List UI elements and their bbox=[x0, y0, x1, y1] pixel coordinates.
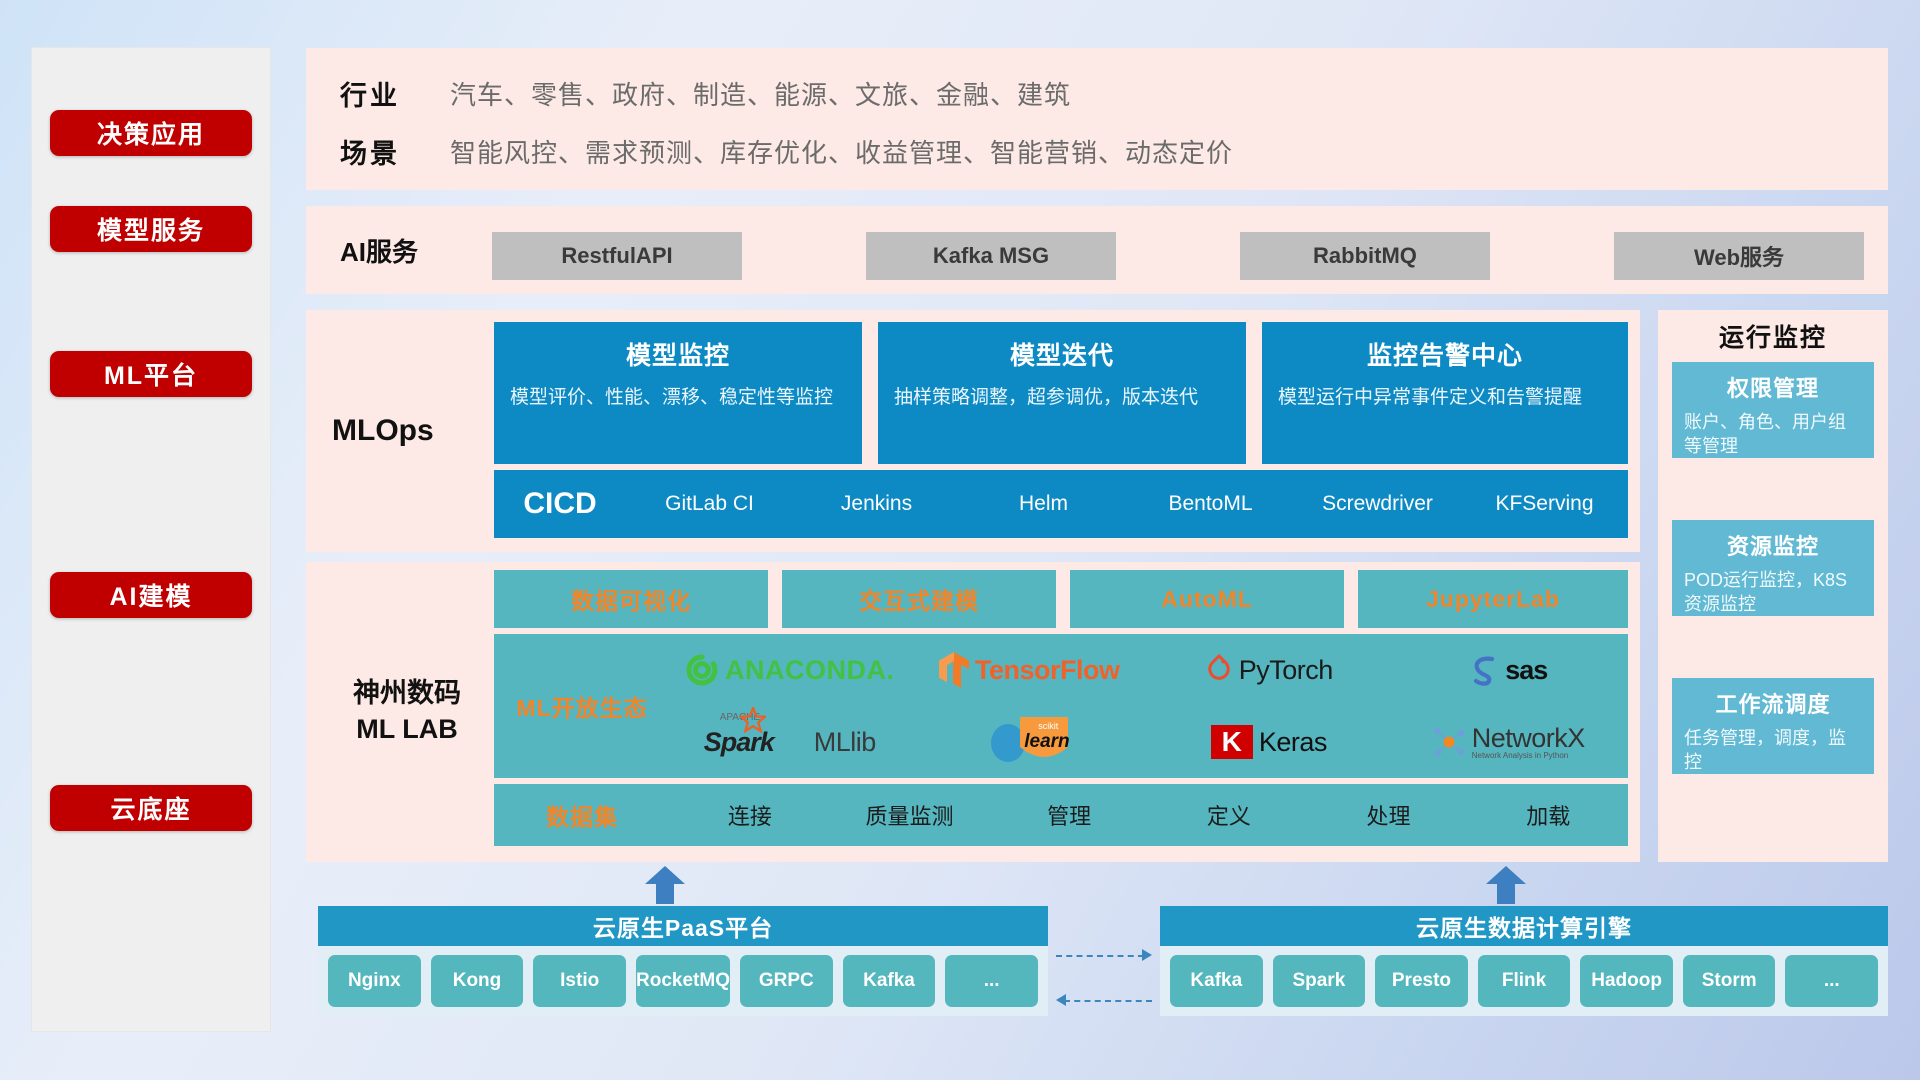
layer-rail: 决策应用 模型服务 ML平台 AI建模 云底座 bbox=[32, 48, 270, 1031]
networkx-logo: NetworkX Network Analysis in Python bbox=[1432, 725, 1585, 760]
pytorch-logo: PyTorch bbox=[1205, 654, 1333, 686]
dataset-item-management[interactable]: 管理 bbox=[989, 799, 1149, 831]
paas-chip-nginx[interactable]: Nginx bbox=[328, 955, 421, 1007]
monitor-card-permissions[interactable]: 权限管理 账户、角色、用户组等管理 bbox=[1672, 362, 1874, 458]
data-chip-flink[interactable]: Flink bbox=[1478, 955, 1571, 1007]
anaconda-mark-icon bbox=[685, 653, 719, 687]
mlops-card-title: 监控告警中心 bbox=[1278, 336, 1612, 372]
networkx-wordmark: NetworkX bbox=[1472, 725, 1585, 752]
rail-label: 决策应用 bbox=[97, 115, 205, 151]
cicd-item-jenkins[interactable]: Jenkins bbox=[793, 493, 960, 515]
scenario-value: 智能风控、需求预测、库存优化、收益管理、智能营销、动态定价 bbox=[450, 133, 1233, 170]
paas-chip-more[interactable]: ... bbox=[945, 955, 1038, 1007]
monitor-card-desc: 账户、角色、用户组等管理 bbox=[1684, 410, 1862, 459]
sas-wordmark: sas bbox=[1505, 655, 1547, 686]
sas-logo: sas bbox=[1469, 654, 1547, 686]
data-engine-title: 云原生数据计算引擎 bbox=[1160, 906, 1888, 946]
service-box-kafka-msg[interactable]: Kafka MSG bbox=[866, 232, 1116, 280]
dataset-item-connect[interactable]: 连接 bbox=[670, 799, 830, 831]
networkx-graph-icon bbox=[1432, 725, 1466, 759]
ml-lab-label: 神州数码 ML LAB bbox=[322, 562, 492, 862]
sas-swirl-icon bbox=[1469, 654, 1499, 686]
mlops-card-title: 模型监控 bbox=[510, 336, 846, 372]
pytorch-flame-icon bbox=[1205, 654, 1233, 686]
ml-lab-label-line1: 神州数码 bbox=[353, 676, 461, 712]
dataset-title: 数据集 bbox=[494, 798, 670, 832]
dataset-item-definition[interactable]: 定义 bbox=[1149, 799, 1309, 831]
dataset-item-quality[interactable]: 质量监测 bbox=[830, 799, 990, 831]
mlops-card-desc: 模型运行中异常事件定义和告警提醒 bbox=[1278, 384, 1612, 412]
dataset-row: 数据集 连接 质量监测 管理 定义 处理 加载 bbox=[494, 784, 1628, 846]
pytorch-wordmark: PyTorch bbox=[1239, 655, 1333, 686]
scenario-row: 场景 智能风控、需求预测、库存优化、收益管理、智能营销、动态定价 bbox=[340, 132, 1233, 171]
paas-chip-grpc[interactable]: GRPC bbox=[740, 955, 833, 1007]
industry-row: 行业 汽车、零售、政府、制造、能源、文旅、金融、建筑 bbox=[340, 74, 1071, 113]
runtime-monitor-title: 运行监控 bbox=[1658, 318, 1888, 354]
scenario-key: 场景 bbox=[340, 132, 450, 171]
spark-mark: APACHE Spark bbox=[704, 727, 774, 758]
industry-value: 汽车、零售、政府、制造、能源、文旅、金融、建筑 bbox=[450, 75, 1071, 112]
monitor-card-desc: POD运行监控，K8S资源监控 bbox=[1684, 568, 1862, 617]
tensorflow-wordmark: TensorFlow bbox=[975, 655, 1120, 686]
spark-mllib-logo: APACHE Spark MLlib bbox=[704, 727, 876, 758]
mlops-card-title: 模型迭代 bbox=[894, 336, 1230, 372]
keras-mark-icon: K bbox=[1211, 725, 1253, 759]
mlops-card-desc: 抽样策略调整，超参调优，版本迭代 bbox=[894, 384, 1230, 412]
link-data-engine-to-paas bbox=[1056, 1000, 1152, 1002]
cicd-item-bentoml[interactable]: BentoML bbox=[1127, 493, 1294, 515]
ml-ecosystem-row: ML开放生态 ANACONDA. TensorFlow PyTorch bbox=[494, 634, 1628, 778]
paas-stack: 云原生PaaS平台 Nginx Kong Istio RocketMQ GRPC… bbox=[318, 906, 1048, 1016]
link-paas-to-data-engine bbox=[1056, 955, 1152, 957]
arrow-up-data-engine-to-lab bbox=[1486, 866, 1526, 900]
cicd-title: CICD bbox=[494, 487, 626, 521]
paas-chip-rocketmq[interactable]: RocketMQ bbox=[636, 955, 730, 1007]
ml-ecosystem-logo-grid: ANACONDA. TensorFlow PyTorch sas bbox=[670, 634, 1628, 778]
rail-item-cloud-base[interactable]: 云底座 bbox=[50, 785, 252, 831]
link-arrow-right-icon bbox=[1142, 949, 1152, 961]
arrow-up-paas-to-lab bbox=[645, 866, 685, 900]
spark-star-icon bbox=[740, 707, 766, 733]
data-chip-storm[interactable]: Storm bbox=[1683, 955, 1776, 1007]
tensorflow-logo: TensorFlow bbox=[939, 652, 1120, 688]
decision-apps-band: 行业 汽车、零售、政府、制造、能源、文旅、金融、建筑 场景 智能风控、需求预测、… bbox=[306, 48, 1888, 190]
mlops-card-alert-center[interactable]: 监控告警中心 模型运行中异常事件定义和告警提醒 bbox=[1262, 322, 1628, 464]
cicd-bar: CICD GitLab CI Jenkins Helm BentoML Scre… bbox=[494, 470, 1628, 538]
data-engine-stack: 云原生数据计算引擎 Kafka Spark Presto Flink Hadoo… bbox=[1160, 906, 1888, 1016]
scikit-label: scikit bbox=[1038, 721, 1058, 731]
rail-item-ai-modeling[interactable]: AI建模 bbox=[50, 572, 252, 618]
cicd-item-gitlab-ci[interactable]: GitLab CI bbox=[626, 493, 793, 515]
rail-label: AI建模 bbox=[109, 577, 192, 613]
dataset-item-loading[interactable]: 加载 bbox=[1468, 799, 1628, 831]
mllib-wordmark: MLlib bbox=[814, 727, 876, 758]
service-box-restful-api[interactable]: RestfulAPI bbox=[492, 232, 742, 280]
rail-label: 云底座 bbox=[110, 790, 191, 826]
paas-title: 云原生PaaS平台 bbox=[318, 906, 1048, 946]
ai-service-label: AI服务 bbox=[340, 206, 418, 294]
lab-feature-automl[interactable]: AutoML bbox=[1070, 570, 1344, 628]
industry-key: 行业 bbox=[340, 74, 450, 113]
anaconda-logo: ANACONDA. bbox=[685, 653, 895, 687]
monitor-card-title: 权限管理 bbox=[1684, 371, 1862, 403]
paas-chip-row: Nginx Kong Istio RocketMQ GRPC Kafka ... bbox=[318, 946, 1048, 1016]
rail-label: 模型服务 bbox=[97, 211, 205, 247]
monitor-card-desc: 任务管理，调度，监控 bbox=[1684, 726, 1862, 775]
cicd-item-screwdriver[interactable]: Screwdriver bbox=[1294, 493, 1461, 515]
anaconda-wordmark: ANACONDA. bbox=[725, 655, 895, 686]
monitor-card-title: 资源监控 bbox=[1684, 529, 1862, 561]
data-chip-more[interactable]: ... bbox=[1785, 955, 1878, 1007]
rail-label: ML平台 bbox=[104, 356, 198, 392]
cicd-item-kfserving[interactable]: KFServing bbox=[1461, 493, 1628, 515]
paas-chip-istio[interactable]: Istio bbox=[533, 955, 626, 1007]
lab-feature-jupyterlab[interactable]: JupyterLab bbox=[1358, 570, 1628, 628]
link-arrow-left-icon bbox=[1056, 994, 1066, 1006]
keras-logo: K Keras bbox=[1211, 725, 1327, 759]
cicd-item-helm[interactable]: Helm bbox=[960, 493, 1127, 515]
rail-item-ml-platform[interactable]: ML平台 bbox=[50, 351, 252, 397]
mlops-card-desc: 模型评价、性能、漂移、稳定性等监控 bbox=[510, 384, 846, 412]
mlops-label: MLOps bbox=[332, 310, 434, 552]
ml-lab-label-line2: ML LAB bbox=[356, 712, 458, 748]
data-chip-spark[interactable]: Spark bbox=[1273, 955, 1366, 1007]
data-chip-kafka[interactable]: Kafka bbox=[1170, 955, 1263, 1007]
data-chip-presto[interactable]: Presto bbox=[1375, 955, 1468, 1007]
scikit-orange-blob: scikit learn bbox=[1018, 717, 1070, 768]
scikit-learn-logo: scikit learn bbox=[988, 717, 1070, 768]
service-box-web[interactable]: Web服务 bbox=[1614, 232, 1864, 280]
rail-item-decision-apps[interactable]: 决策应用 bbox=[50, 110, 252, 156]
tensorflow-mark-icon bbox=[939, 652, 969, 688]
monitor-card-title: 工作流调度 bbox=[1684, 687, 1862, 719]
dataset-item-processing[interactable]: 处理 bbox=[1309, 799, 1469, 831]
lab-feature-data-visualization[interactable]: 数据可视化 bbox=[494, 570, 768, 628]
monitor-card-workflow[interactable]: 工作流调度 任务管理，调度，监控 bbox=[1672, 678, 1874, 774]
service-box-rabbitmq[interactable]: RabbitMQ bbox=[1240, 232, 1490, 280]
data-chip-hadoop[interactable]: Hadoop bbox=[1580, 955, 1673, 1007]
keras-wordmark: Keras bbox=[1259, 727, 1327, 758]
learn-label: learn bbox=[1024, 731, 1069, 753]
ml-ecosystem-title: ML开放生态 bbox=[494, 689, 670, 723]
mlops-card-model-monitoring[interactable]: 模型监控 模型评价、性能、漂移、稳定性等监控 bbox=[494, 322, 862, 464]
paas-chip-kong[interactable]: Kong bbox=[431, 955, 524, 1007]
paas-chip-kafka[interactable]: Kafka bbox=[843, 955, 936, 1007]
lab-feature-interactive-modeling[interactable]: 交互式建模 bbox=[782, 570, 1056, 628]
monitor-card-resources[interactable]: 资源监控 POD运行监控，K8S资源监控 bbox=[1672, 520, 1874, 616]
rail-item-model-service[interactable]: 模型服务 bbox=[50, 206, 252, 252]
networkx-text-block: NetworkX Network Analysis in Python bbox=[1472, 725, 1585, 760]
networkx-tagline: Network Analysis in Python bbox=[1472, 752, 1585, 760]
mlops-card-model-iteration[interactable]: 模型迭代 抽样策略调整，超参调优，版本迭代 bbox=[878, 322, 1246, 464]
data-engine-chip-row: Kafka Spark Presto Flink Hadoop Storm ..… bbox=[1160, 946, 1888, 1016]
